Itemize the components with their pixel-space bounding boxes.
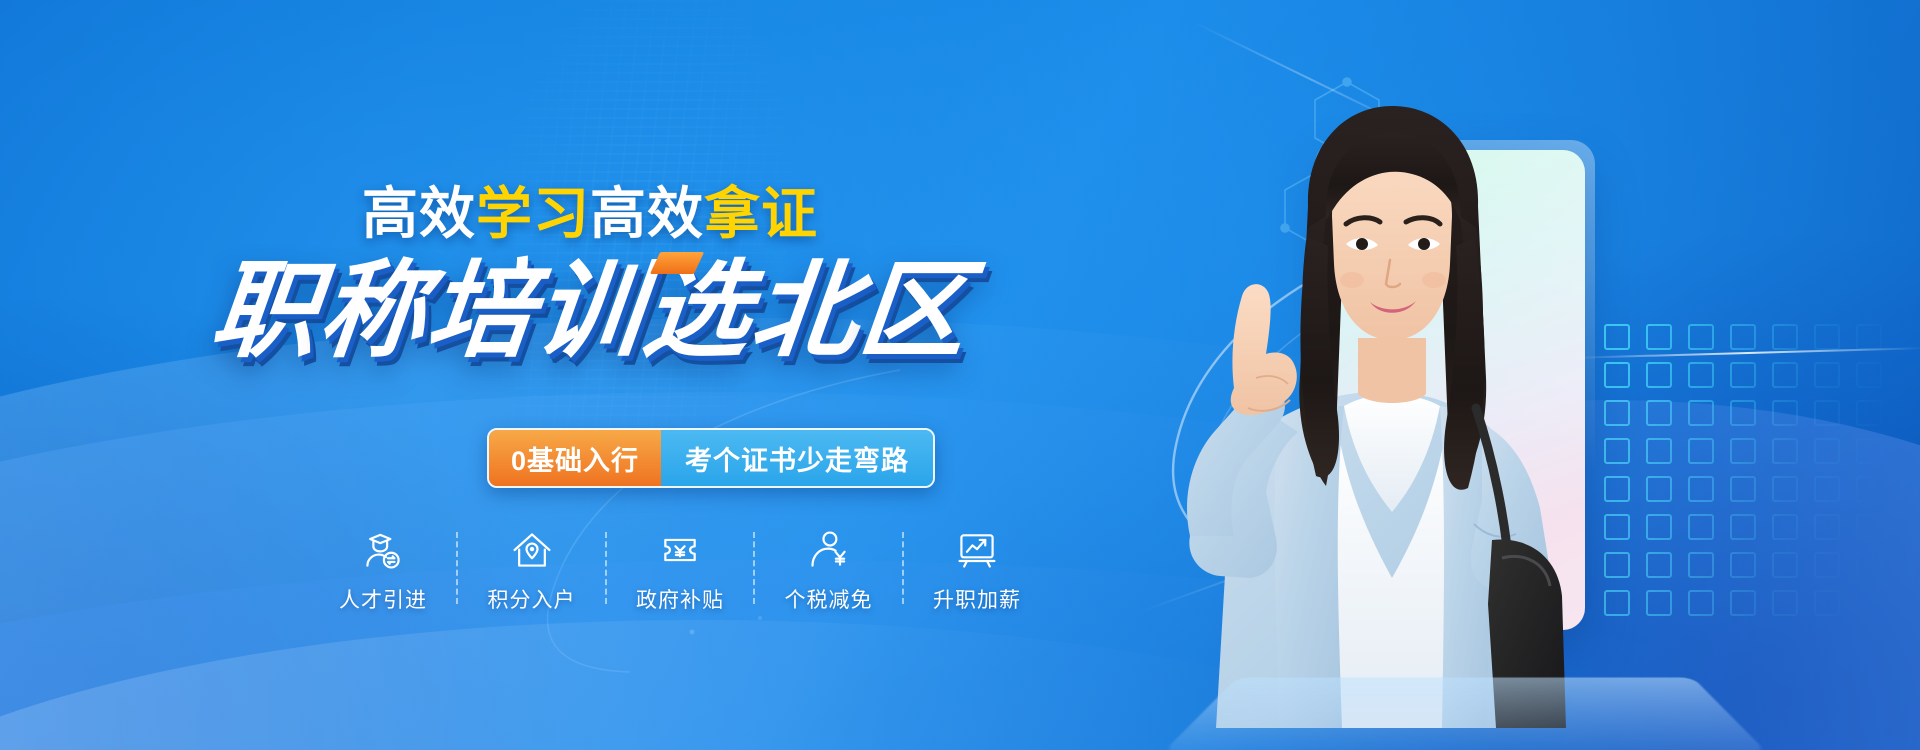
headline-char-1: 职 bbox=[206, 258, 325, 364]
hero-visual bbox=[1165, 0, 1920, 750]
woman-pointing-up-photo bbox=[1130, 88, 1650, 728]
feature-divider bbox=[902, 532, 904, 604]
feature-item-talent-introduction[interactable]: 人才引进 bbox=[330, 528, 436, 614]
sub-headline-part-1: 高效 bbox=[362, 182, 476, 245]
headline-char-5-wrap: 选 bbox=[638, 258, 757, 364]
foreground-desk-surface bbox=[1162, 677, 1768, 750]
banner-content: 高效学习高效拿证 职称培训选北区 0基础入行 考个证书少走弯路 bbox=[0, 0, 1180, 750]
feature-item-government-subsidy[interactable]: 政府补贴 bbox=[627, 528, 733, 614]
tagline-badge: 0基础入行 考个证书少走弯路 bbox=[487, 428, 935, 488]
headline-group: 高效学习高效拿证 职称培训选北区 bbox=[0, 186, 1180, 364]
feature-divider bbox=[605, 532, 607, 604]
feature-divider bbox=[753, 532, 755, 604]
badge-left-label: 0基础入行 bbox=[489, 430, 661, 486]
house-pin-icon bbox=[510, 528, 554, 572]
feature-item-promotion-raise[interactable]: 升职加薪 bbox=[924, 528, 1030, 614]
feature-divider bbox=[456, 532, 458, 604]
sub-headline-part-4: 拿证 bbox=[704, 182, 818, 245]
headline-char-3: 培 bbox=[422, 258, 541, 364]
feature-label: 积分入户 bbox=[488, 584, 576, 614]
feature-item-tax-reduction[interactable]: 个税减免 bbox=[776, 528, 882, 614]
graduate-exchange-icon bbox=[361, 528, 405, 572]
promo-banner: 高效学习高效拿证 职称培训选北区 0基础入行 考个证书少走弯路 bbox=[0, 0, 1920, 750]
badge-right-label: 考个证书少走弯路 bbox=[661, 430, 933, 486]
headline-char-4: 训 bbox=[530, 258, 649, 364]
voucher-yuan-icon bbox=[658, 528, 702, 572]
sub-headline-part-3: 高效 bbox=[590, 182, 704, 245]
headline-char-2: 称 bbox=[314, 258, 433, 364]
feature-label: 人才引进 bbox=[339, 584, 427, 614]
headline-char-7: 区 bbox=[854, 258, 973, 364]
feature-label: 个税减免 bbox=[785, 584, 873, 614]
person-yuan-icon bbox=[807, 528, 851, 572]
sub-headline-part-2: 学习 bbox=[476, 182, 590, 245]
main-headline: 职称培训选北区 bbox=[0, 258, 1186, 364]
headline-char-6: 北 bbox=[746, 258, 865, 364]
feature-label: 政府补贴 bbox=[636, 584, 724, 614]
sub-headline: 高效学习高效拿证 bbox=[0, 186, 1180, 242]
feature-list: 人才引进 积分入户 bbox=[330, 528, 1030, 614]
feature-label: 升职加薪 bbox=[933, 584, 1021, 614]
chart-board-icon bbox=[955, 528, 999, 572]
feature-item-points-residency[interactable]: 积分入户 bbox=[479, 528, 585, 614]
